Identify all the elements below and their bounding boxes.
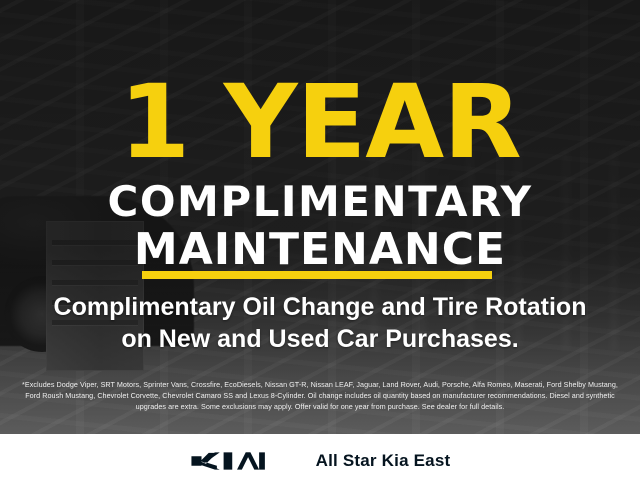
headline-maintenance: MAINTENANCE [0,228,640,272]
yellow-divider-rule [142,271,492,279]
headline-complimentary: COMPLIMENTARY [0,181,640,223]
footer-bar: All Star Kia East [0,434,640,488]
dealer-name: All Star Kia East [316,451,451,471]
promo-banner: 1 YEAR COMPLIMENTARY MAINTENANCE Complim… [0,0,640,488]
kia-logo-icon [190,449,286,473]
disclaimer-text: *Excludes Dodge Viper, SRT Motors, Sprin… [14,379,626,412]
ad-copy: 1 YEAR COMPLIMENTARY MAINTENANCE Complim… [0,0,640,488]
headline-year: 1 YEAR [0,72,640,174]
subheadline-line-1: Complimentary Oil Change and Tire Rotati… [0,295,640,320]
subheadline-line-2: on New and Used Car Purchases. [0,327,640,352]
